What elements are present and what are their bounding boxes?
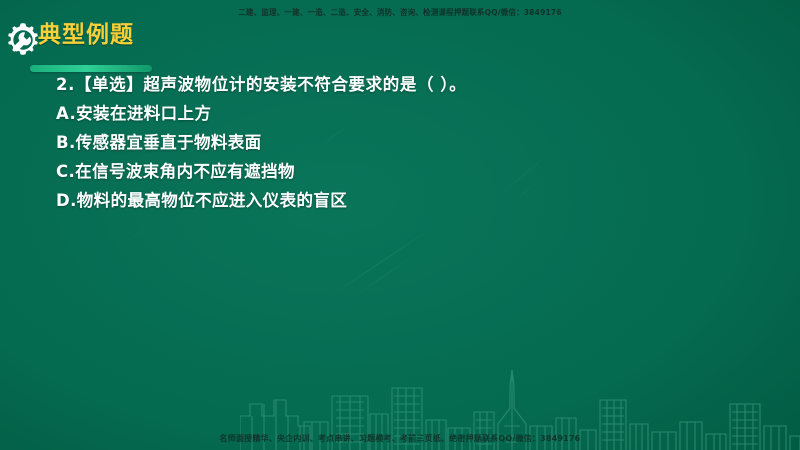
streak-line bbox=[330, 229, 430, 297]
top-promo-text: 二建、监理、一建、一造、二造、安全、消防、咨询、检测课程押题联系QQ/微信：38… bbox=[238, 6, 562, 18]
question-block: 2.【单选】超声波物位计的安装不符合要求的是（ ）。 A.安装在进料口上方 B.… bbox=[56, 70, 756, 215]
streak-line bbox=[120, 213, 166, 247]
slide-canvas: 二建、监理、一建、一造、二造、安全、消防、咨询、检测课程押题联系QQ/微信：38… bbox=[0, 0, 800, 450]
question-stem: 2.【单选】超声波物位计的安装不符合要求的是（ ）。 bbox=[56, 70, 756, 99]
option-c[interactable]: C.在信号波束角内不应有遮挡物 bbox=[56, 157, 756, 186]
bottom-promo-text: 名师面授精华、央企内训、考点串讲、习题模考、考前三页纸、绝密押题联系QQ/微信：… bbox=[220, 433, 581, 444]
option-d[interactable]: D.物料的最高物位不应进入仪表的盲区 bbox=[56, 186, 756, 215]
option-b[interactable]: B.传感器宜垂直于物料表面 bbox=[56, 128, 756, 157]
page-title: 典型例题 bbox=[38, 21, 134, 49]
streak-line bbox=[348, 253, 418, 301]
option-a[interactable]: A.安装在进料口上方 bbox=[56, 99, 756, 128]
section-header: 典型例题 bbox=[2, 20, 172, 60]
gear-wrench-icon bbox=[4, 21, 42, 59]
bottom-promo-banner: 名师面授精华、央企内训、考点串讲、习题模考、考前三页纸、绝密押题联系QQ/微信：… bbox=[0, 430, 800, 446]
